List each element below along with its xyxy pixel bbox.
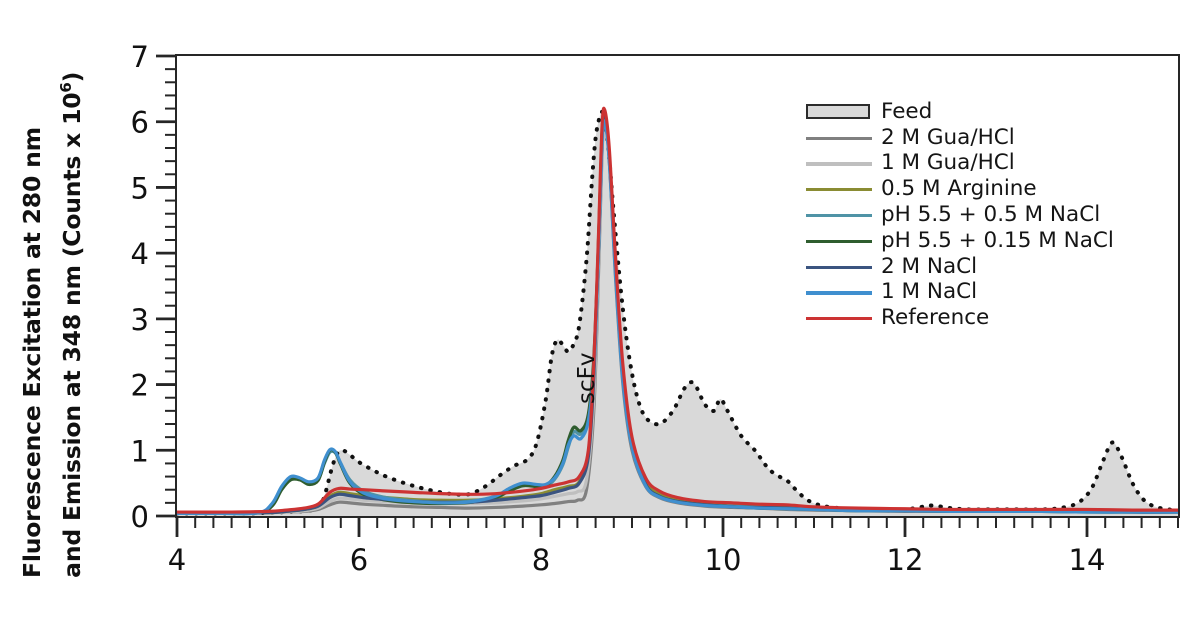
y-tick-label: 4 bbox=[131, 237, 149, 271]
legend-key bbox=[806, 232, 872, 250]
legend-key bbox=[806, 258, 872, 276]
y-axis-title-exponent: 6 bbox=[57, 83, 75, 93]
legend-item-feed[interactable]: Feed bbox=[806, 99, 1106, 125]
x-tick-label: 8 bbox=[532, 543, 550, 577]
legend-line-icon bbox=[806, 162, 872, 165]
y-tick-label: 3 bbox=[131, 303, 149, 337]
chromatogram-figure: Fluorescence Excitation at 280 nm and Em… bbox=[0, 0, 1200, 630]
y-axis-title: Fluorescence Excitation at 280 nm and Em… bbox=[0, 0, 128, 600]
legend-line-icon bbox=[806, 137, 872, 140]
x-tick-label: 10 bbox=[705, 543, 742, 577]
y-axis-title-closeparen: ) bbox=[58, 72, 86, 83]
annotation-scfv: scFv bbox=[574, 353, 600, 404]
legend-label: 2 M NaCl bbox=[881, 256, 977, 278]
legend-line-icon bbox=[806, 188, 872, 191]
legend: Feed2 M Gua/HCl1 M Gua/HCl0.5 M Arginine… bbox=[806, 99, 1106, 331]
legend-label: 1 M NaCl bbox=[881, 281, 977, 303]
y-axis-title-line2: and Emission at 348 nm (Counts x 106) bbox=[57, 72, 86, 578]
legend-key bbox=[806, 103, 872, 121]
legend-key bbox=[806, 154, 872, 172]
legend-swatch-icon bbox=[806, 104, 870, 119]
legend-line-icon bbox=[806, 240, 872, 243]
y-axis-title-line2-text: and Emission at 348 nm (Counts x 10 bbox=[58, 93, 86, 578]
legend-key bbox=[806, 180, 872, 198]
legend-key bbox=[806, 283, 872, 301]
legend-label: Reference bbox=[881, 307, 989, 329]
legend-item-1-m-nacl[interactable]: 1 M NaCl bbox=[806, 280, 1106, 306]
legend-label: pH 5.5 + 0.15 M NaCl bbox=[881, 230, 1114, 252]
y-tick-label: 1 bbox=[131, 434, 149, 468]
legend-item-reference[interactable]: Reference bbox=[806, 305, 1106, 331]
legend-label: 1 M Gua/HCl bbox=[881, 152, 1015, 174]
legend-item-ph-5-5-0-5-m-nacl[interactable]: pH 5.5 + 0.5 M NaCl bbox=[806, 202, 1106, 228]
legend-key bbox=[806, 309, 872, 327]
legend-line-icon bbox=[806, 317, 872, 320]
y-axis-title-line1: Fluorescence Excitation at 280 nm bbox=[18, 127, 46, 578]
legend-item-ph-5-5-0-15-m-nacl[interactable]: pH 5.5 + 0.15 M NaCl bbox=[806, 228, 1106, 254]
x-tick-label: 12 bbox=[887, 543, 924, 577]
y-tick-label: 7 bbox=[131, 40, 149, 74]
legend-label: 0.5 M Arginine bbox=[881, 178, 1037, 200]
legend-label: 2 M Gua/HCl bbox=[881, 127, 1015, 149]
legend-key bbox=[806, 206, 872, 224]
x-tick-label: 14 bbox=[1069, 543, 1106, 577]
legend-item-2-m-gua-hcl[interactable]: 2 M Gua/HCl bbox=[806, 125, 1106, 151]
legend-key bbox=[806, 129, 872, 147]
x-tick-label: 6 bbox=[350, 543, 368, 577]
legend-line-icon bbox=[806, 214, 872, 217]
legend-line-icon bbox=[806, 291, 872, 294]
x-tick-label: 4 bbox=[168, 543, 186, 577]
y-tick-label: 6 bbox=[131, 106, 149, 140]
legend-item-0-5-m-arginine[interactable]: 0.5 M Arginine bbox=[806, 176, 1106, 202]
legend-item-2-m-nacl[interactable]: 2 M NaCl bbox=[806, 254, 1106, 280]
legend-label: Feed bbox=[881, 101, 932, 123]
legend-item-1-m-gua-hcl[interactable]: 1 M Gua/HCl bbox=[806, 151, 1106, 177]
y-tick-label: 5 bbox=[131, 171, 149, 205]
legend-label: pH 5.5 + 0.5 M NaCl bbox=[881, 204, 1100, 226]
y-tick-label: 2 bbox=[131, 369, 149, 403]
y-tick-label: 0 bbox=[131, 500, 149, 534]
legend-line-icon bbox=[806, 266, 872, 269]
